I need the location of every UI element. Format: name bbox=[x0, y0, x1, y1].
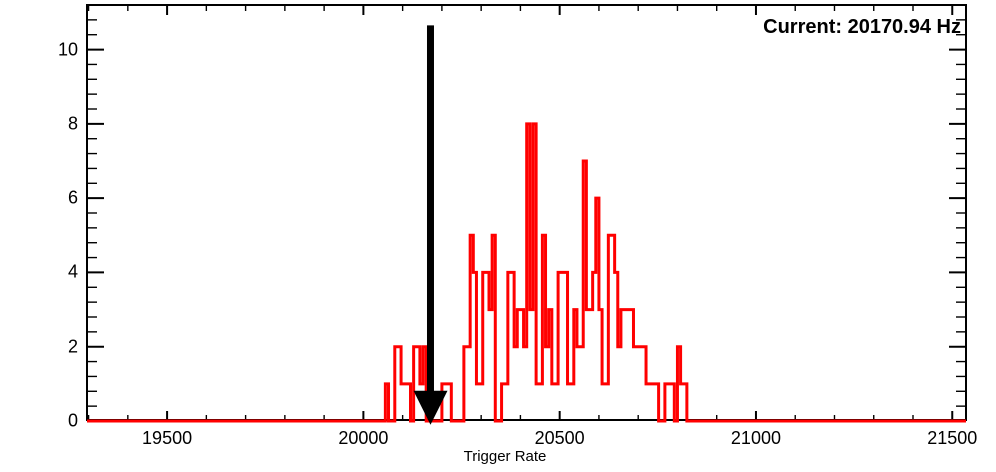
histogram-step-path bbox=[87, 124, 966, 421]
current-rate-readout: Current: 20170.94 Hz bbox=[763, 16, 961, 39]
y-tick-label: 4 bbox=[30, 262, 78, 283]
x-tick-label: 21500 bbox=[927, 428, 977, 449]
x-axis-title: Trigger Rate bbox=[464, 448, 547, 465]
histogram-plot-root: 0246810 1950020000205002100021500 Trigge… bbox=[0, 0, 996, 472]
plot-canvas bbox=[0, 0, 996, 472]
y-tick-label: 0 bbox=[30, 411, 78, 432]
x-tick-label: 20000 bbox=[338, 428, 388, 449]
y-tick-label: 2 bbox=[30, 336, 78, 357]
x-tick-label: 21000 bbox=[731, 428, 781, 449]
x-tick-label: 19500 bbox=[142, 428, 192, 449]
y-tick-label: 8 bbox=[30, 113, 78, 134]
y-tick-label: 10 bbox=[30, 39, 78, 60]
x-tick-label: 20500 bbox=[535, 428, 585, 449]
y-tick-label: 6 bbox=[30, 188, 78, 209]
histogram-trace bbox=[87, 124, 966, 421]
